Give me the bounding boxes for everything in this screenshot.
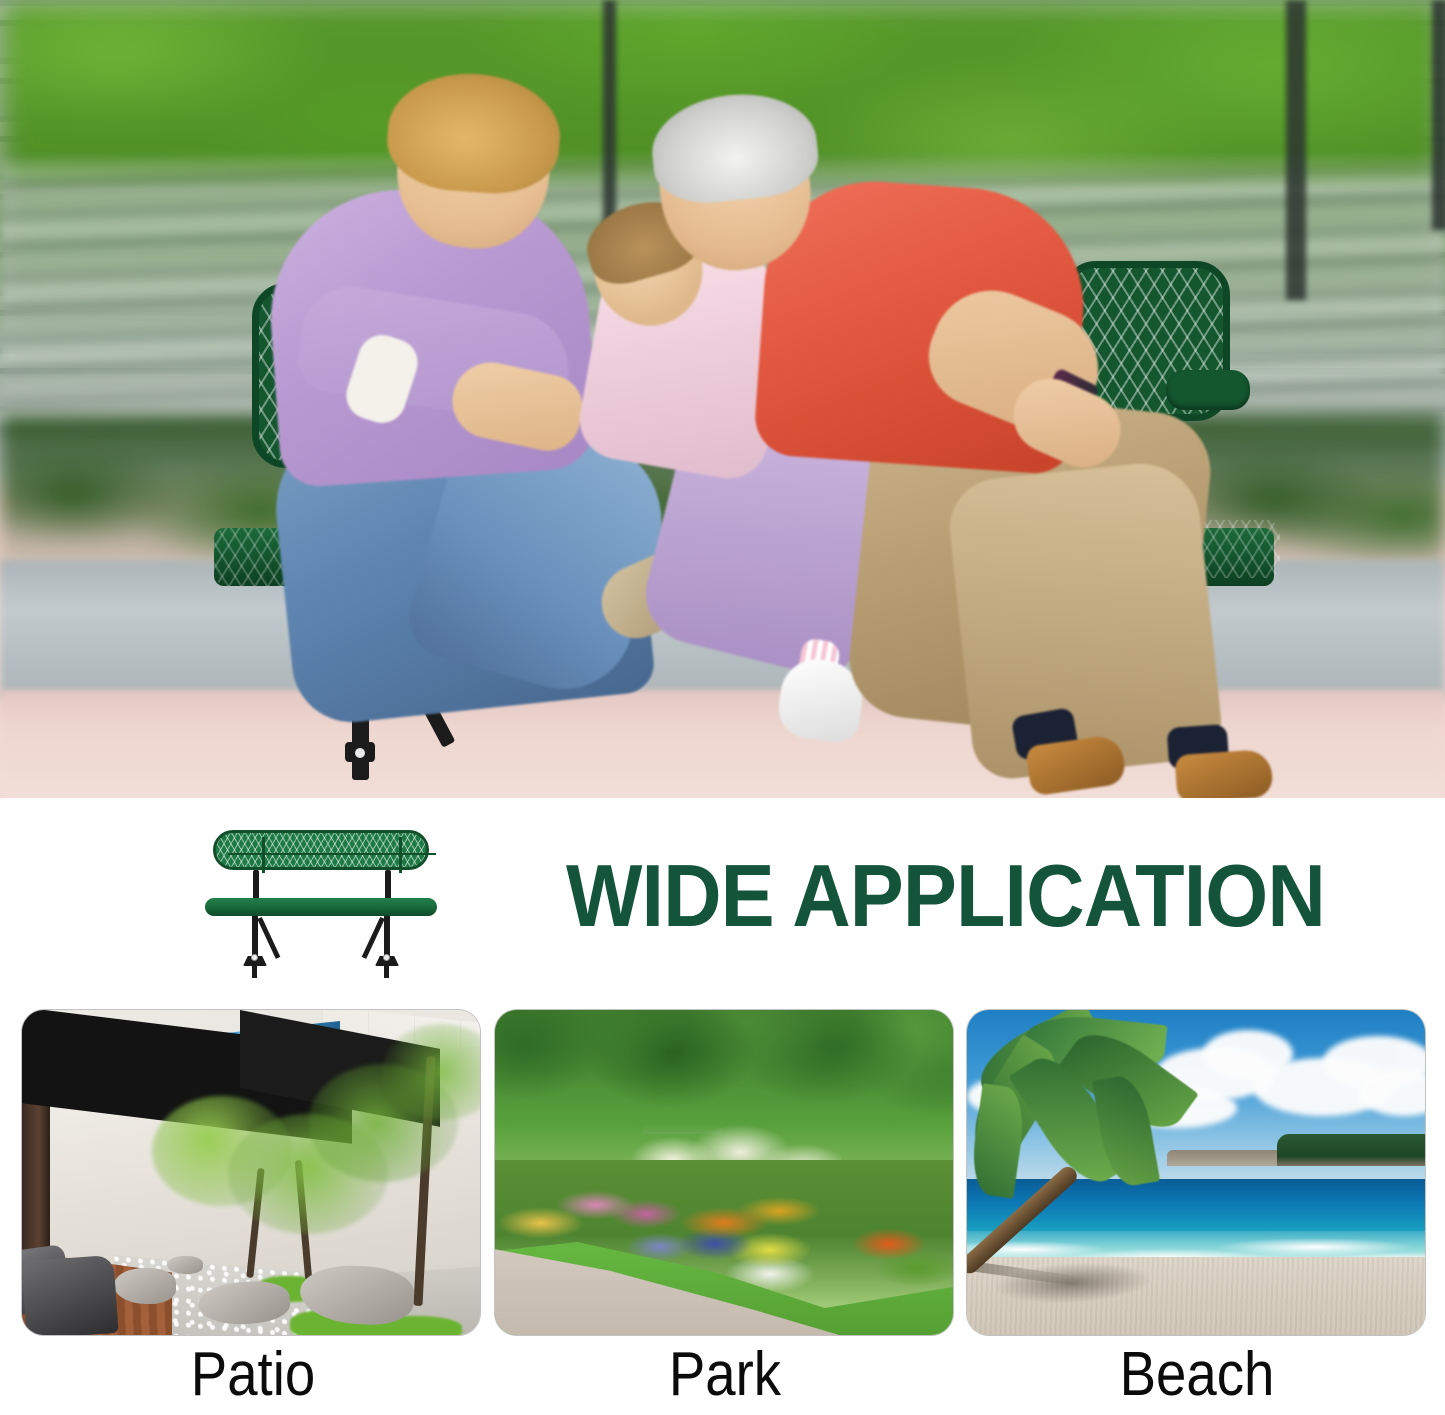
bench-thumb-backrest-rib [399,837,402,873]
bench-armrest [1166,370,1250,410]
beach-headland [1277,1134,1425,1166]
headline-wide-application: WIDE APPLICATION [566,846,1302,946]
caption-beach: Beach [995,1340,1398,1410]
caption-park: Park [523,1340,926,1410]
bench-thumb-brace [257,917,280,959]
patio-lounge-chair [22,1255,119,1335]
panel-park[interactable] [495,1010,953,1335]
bench-thumb-backrest-rib [262,837,265,873]
patio-boulder [167,1256,203,1274]
beach-photo [967,1010,1425,1335]
patio-boulder [114,1268,176,1304]
bench-thumb-seat [205,898,437,916]
bench-thumb-foot-stem [384,964,389,978]
panel-patio[interactable] [22,1010,480,1335]
patio-photo [22,1010,480,1335]
product-bench-thumbnail [205,828,437,978]
bench-thumb-brace [362,917,385,959]
bench-thumb-backrest-divider [228,853,436,855]
panel-beach[interactable] [967,1010,1425,1335]
bench-thumb-bolt-icon [251,954,258,961]
park-photo [495,1010,953,1335]
application-panels [0,1010,1445,1335]
panel-captions: Patio Park Beach [0,1340,1445,1415]
bench-bolt-icon [355,748,365,758]
hero-lifestyle-image [0,0,1445,798]
grandfather-shoe [1174,749,1273,798]
bench-thumb-backrest [213,830,429,870]
caption-patio: Patio [51,1340,454,1410]
bench-thumb-bolt-icon [383,954,390,961]
bench-thumb-foot-stem [252,964,257,978]
